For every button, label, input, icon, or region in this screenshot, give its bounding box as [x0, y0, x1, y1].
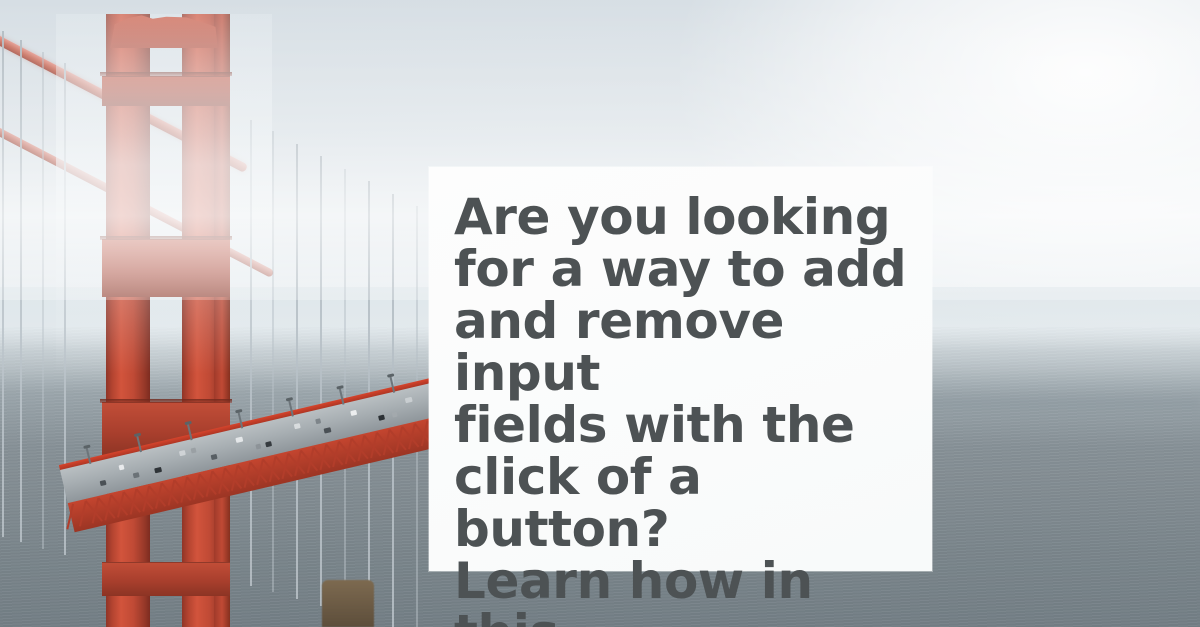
- screenshot-canvas: Are you looking for a way to add and rem…: [0, 0, 1200, 627]
- card-headline: Are you looking for a way to add and rem…: [454, 191, 914, 627]
- text-card: Are you looking for a way to add and rem…: [429, 167, 932, 571]
- tower-band-3: [100, 399, 232, 403]
